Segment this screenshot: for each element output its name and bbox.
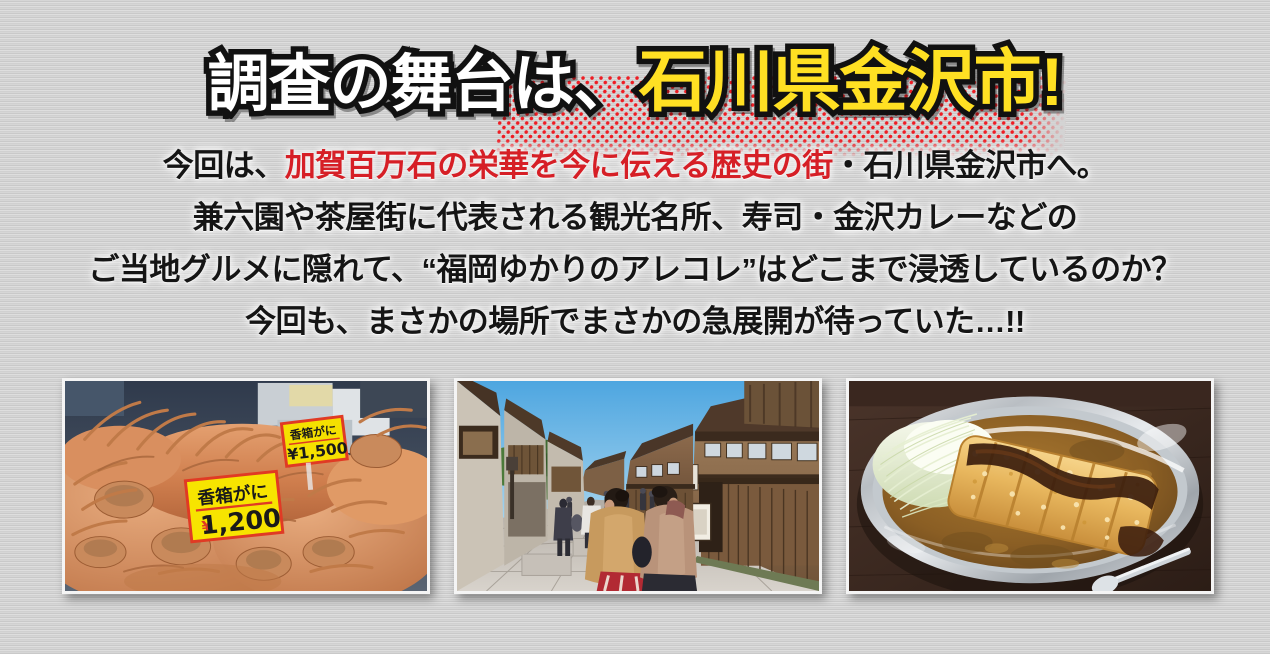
copy-line-1-part-c: ・石川県金沢市へ。 [833, 148, 1108, 183]
body-copy-block: 今回は、加賀百万石の栄華を今に伝える歴史の街・石川県金沢市へ。 兼六園や茶屋街に… [0, 140, 1270, 348]
slide-canvas: 調査の舞台は、石川県金沢市! 今回は、加賀百万石の栄華を今に伝える歴史の街・石川… [0, 0, 1270, 654]
headline-text: 調査の舞台は、石川県金沢市! [0, 32, 1270, 135]
photo-chaya-street [454, 378, 822, 594]
photo-crab-market: 香箱がに ¥1,500 香箱がに ¥ 1,200 [62, 378, 430, 594]
copy-line-2: 兼六園や茶屋街に代表される観光名所、寿司・金沢カレーなどの [0, 192, 1270, 244]
copy-line-1-part-a: 今回は、 [163, 148, 285, 183]
headline-prefix: 調査の舞台は、 [208, 35, 635, 135]
copy-line-1-part-b: 加賀百万石の栄華を今に伝える歴史の街 [285, 148, 833, 183]
photo-strip: 香箱がに ¥1,500 香箱がに ¥ 1,200 [0, 378, 1270, 600]
photo-kanazawa-curry [846, 378, 1214, 594]
copy-line-3: ご当地グルメに隠れて、“福岡ゆかりのアレコレ”はどこまで浸透しているのか？ [0, 244, 1270, 296]
copy-line-4: 今回も、まさかの場所でまさかの急展開が待っていた…!! [0, 296, 1270, 348]
headline-block: 調査の舞台は、石川県金沢市! [0, 32, 1270, 132]
headline-highlight: 石川県金沢市! [639, 32, 1063, 132]
copy-line-1: 今回は、加賀百万石の栄華を今に伝える歴史の街・石川県金沢市へ。 [0, 140, 1270, 192]
